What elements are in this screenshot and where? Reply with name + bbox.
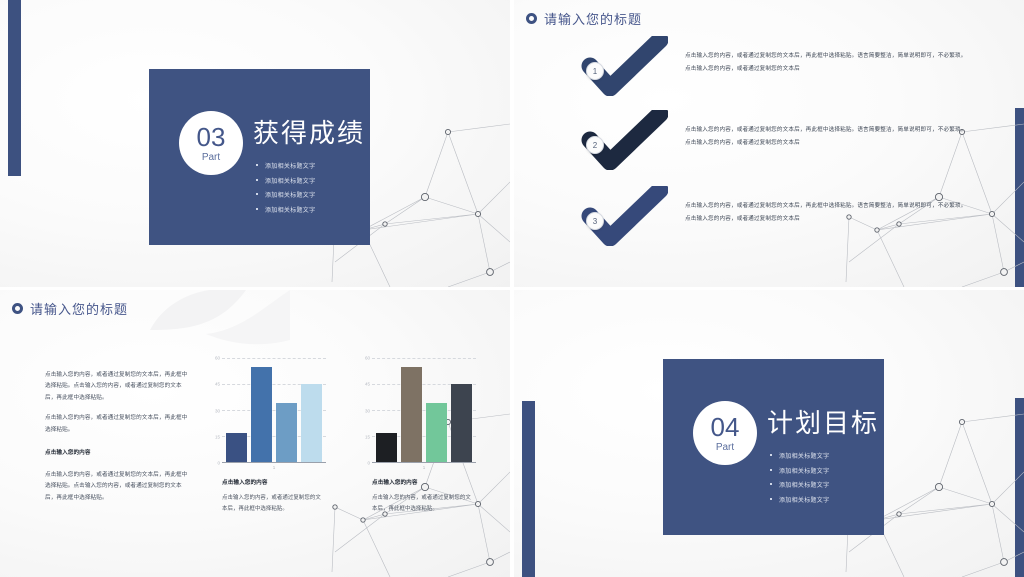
slide-section-04[interactable]: 04 Part 计划目标 添加相关标题文字 添加相关标题文字 添加相关标题文字 … [514, 290, 1024, 577]
plot-area [372, 358, 476, 463]
checklist-line: 点击输入您的内容，或者通过复制您的文本后 [685, 213, 980, 226]
slide-grid: 03 Part 获得成绩 添加相关标题文字 添加相关标题文字 添加相关标题文字 … [0, 0, 1024, 577]
left-accent-bar [522, 401, 535, 577]
ring-icon [12, 303, 23, 314]
body-text-column: 点击输入您的内容，或者通过复制您的文本后，再此框中选择粘贴。点击输入您的内容，或… [45, 370, 188, 513]
y-axis-labels: 60 45 30 15 0 [208, 358, 222, 463]
bar-chart-2: 60 45 30 15 0 [358, 358, 476, 463]
list-item: 添加相关标题文字 [256, 176, 315, 185]
section-title: 计划目标 [767, 403, 879, 440]
y-tick-label: 30 [365, 408, 370, 413]
checklist-line: 点击输入您的内容，或者通过复制您的文本后，再此框中选择粘贴。语言简要整洁，简单说… [685, 50, 980, 63]
slide-header: 请输入您的标题 [526, 9, 642, 28]
list-item: 添加相关标题文字 [770, 451, 829, 460]
section-title: 获得成绩 [253, 113, 365, 150]
section-card: 03 Part 获得成绩 添加相关标题文字 添加相关标题文字 添加相关标题文字 … [149, 69, 370, 245]
list-item: 添加相关标题文字 [770, 466, 829, 475]
chart-caption-body: 点击输入您的内容，或者通过复制您的文本后，再此框中选择粘贴。 [222, 493, 326, 515]
step-number-badge: 1 [586, 62, 604, 80]
section-part-label: Part [202, 153, 220, 163]
y-tick-label: 45 [365, 382, 370, 387]
list-item: 添加相关标题文字 [256, 205, 315, 214]
checklist-text: 点击输入您的内容，或者通过复制您的文本后，再此框中选择粘贴。语言简要整洁，简单说… [685, 124, 980, 149]
section-number: 03 [197, 124, 226, 150]
chart-caption: 点击输入您的内容 点击输入您的内容，或者通过复制您的文本后，再此框中选择粘贴。 [222, 478, 326, 515]
bar [301, 384, 322, 462]
body-paragraph: 点击输入您的内容，或者通过复制您的文本后，再此框中选择粘贴。 [45, 413, 188, 436]
checklist-text: 点击输入您的内容，或者通过复制您的文本后，再此框中选择粘贴。语言简要整洁，简单说… [685, 200, 980, 225]
bar-series [374, 358, 474, 462]
y-tick-label: 60 [215, 356, 220, 361]
section-number: 04 [711, 414, 740, 440]
page-title: 请输入您的标题 [30, 299, 128, 318]
checklist-line: 点击输入您的内容，或者通过复制您的文本后 [685, 137, 980, 150]
chart-caption-body: 点击输入您的内容，或者通过复制您的文本后，再此框中选择粘贴。 [372, 493, 476, 515]
page-title: 请输入您的标题 [544, 9, 642, 28]
section-number-badge: 03 Part [179, 111, 243, 175]
section-bullet-list: 添加相关标题文字 添加相关标题文字 添加相关标题文字 添加相关标题文字 [256, 161, 315, 219]
bar [251, 367, 272, 462]
right-accent-bar [1015, 398, 1024, 577]
bar [401, 367, 422, 462]
slide-header: 请输入您的标题 [12, 299, 128, 318]
slide-checklist[interactable]: 请输入您的标题 1 点击输入您的内容，或者通过复制您的文本后，再此框中选择粘贴。… [514, 0, 1024, 287]
list-item: 添加相关标题文字 [770, 480, 829, 489]
bar [426, 403, 447, 462]
left-accent-bar [8, 0, 21, 176]
checklist-line: 点击输入您的内容，或者通过复制您的文本后 [685, 63, 980, 76]
y-axis-labels: 60 45 30 15 0 [358, 358, 372, 463]
slide-charts[interactable]: 请输入您的标题 点击输入您的内容，或者通过复制您的文本后，再此框中选择粘贴。点击… [0, 290, 510, 577]
bar [376, 433, 397, 462]
step-number-badge: 3 [586, 212, 604, 230]
checklist-text: 点击输入您的内容，或者通过复制您的文本后，再此框中选择粘贴。语言简要整洁，简单说… [685, 50, 980, 75]
bar-chart-1: 60 45 30 15 0 [208, 358, 326, 463]
chart-caption-title: 点击输入您的内容 [222, 478, 326, 486]
right-accent-bar [1015, 108, 1024, 287]
y-tick-label: 0 [217, 461, 220, 466]
checklist-line: 点击输入您的内容，或者通过复制您的文本后，再此框中选择粘贴。语言简要整洁，简单说… [685, 124, 980, 137]
list-item: 添加相关标题文字 [770, 495, 829, 504]
plot-area [222, 358, 326, 463]
chart-caption-title: 点击输入您的内容 [372, 478, 476, 486]
ring-icon [526, 13, 537, 24]
bar [226, 433, 247, 462]
section-part-label: Part [716, 443, 734, 453]
x-tick-label: 1 [222, 465, 326, 470]
leaf-decoration [150, 290, 290, 352]
step-number-badge: 2 [586, 136, 604, 154]
section-card: 04 Part 计划目标 添加相关标题文字 添加相关标题文字 添加相关标题文字 … [663, 359, 884, 535]
checklist-line: 点击输入您的内容，或者通过复制您的文本后，再此框中选择粘贴。语言简要整洁，简单说… [685, 200, 980, 213]
y-tick-label: 15 [215, 434, 220, 439]
list-item: 添加相关标题文字 [256, 190, 315, 199]
y-tick-label: 45 [215, 382, 220, 387]
bar [451, 384, 472, 462]
x-tick-label: 1 [372, 465, 476, 470]
list-item: 添加相关标题文字 [256, 161, 315, 170]
section-bullet-list: 添加相关标题文字 添加相关标题文字 添加相关标题文字 添加相关标题文字 [770, 451, 829, 509]
y-tick-label: 30 [215, 408, 220, 413]
bar [276, 403, 297, 462]
chart-caption: 点击输入您的内容 点击输入您的内容，或者通过复制您的文本后，再此框中选择粘贴。 [372, 478, 476, 515]
slide-section-03[interactable]: 03 Part 获得成绩 添加相关标题文字 添加相关标题文字 添加相关标题文字 … [0, 0, 510, 287]
body-subheading: 点击输入您的内容 [45, 448, 188, 459]
body-paragraph: 点击输入您的内容，或者通过复制您的文本后，再此框中选择粘贴。点击输入您的内容，或… [45, 370, 188, 404]
section-number-badge: 04 Part [693, 401, 757, 465]
body-paragraph: 点击输入您的内容，或者通过复制您的文本后，再此框中选择粘贴。点击输入您的内容，或… [45, 470, 188, 504]
y-tick-label: 15 [365, 434, 370, 439]
bar-series [224, 358, 324, 462]
y-tick-label: 0 [367, 461, 370, 466]
y-tick-label: 60 [365, 356, 370, 361]
